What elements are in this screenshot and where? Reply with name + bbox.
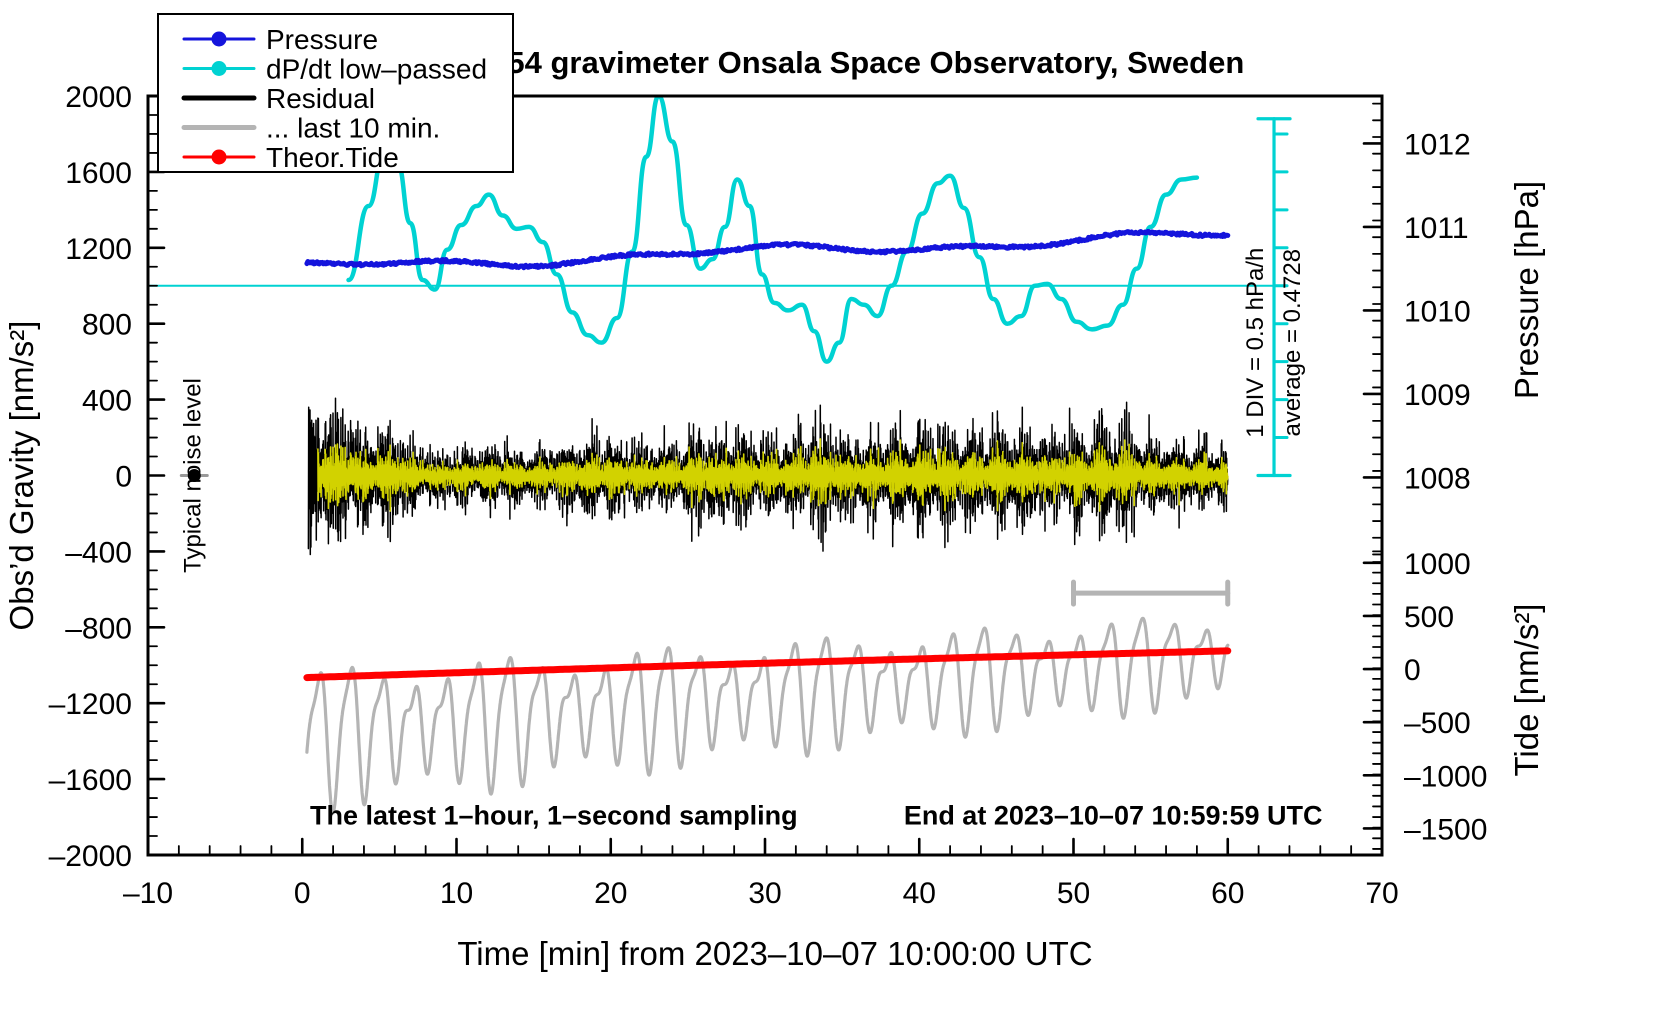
annotation-typical-noise-level: Typical noise level [179, 378, 206, 573]
ytick-label-1: 1600 [65, 157, 132, 190]
xtick-label-4: 30 [748, 877, 781, 910]
tide-tick-label-5: –1500 [1404, 813, 1487, 846]
ytick-label-3: 800 [82, 309, 132, 342]
ytick-label-7: –800 [65, 612, 132, 645]
legend-label-4: Theor.Tide [266, 142, 399, 173]
x-axis-title: Time [min] from 2023–10–07 10:00:00 UTC [457, 935, 1092, 972]
annotation-dpdt-average: average = 0.4728 [1279, 249, 1306, 437]
pressure-tick-label-3: 1009 [1404, 379, 1471, 412]
ytick-label-5: 0 [115, 461, 132, 494]
annotation-latest-sampling: The latest 1–hour, 1–second sampling [310, 801, 798, 831]
ytick-label-4: 400 [82, 385, 132, 418]
tide-tick-label-1: 500 [1404, 601, 1454, 634]
xtick-label-1: 0 [294, 877, 311, 910]
chart-title: SCG_054 gravimeter Onsala Space Observat… [406, 45, 1245, 80]
legend-label-0: Pressure [266, 24, 378, 55]
xtick-label-0: –10 [123, 877, 173, 910]
tide-tick-label-3: –500 [1404, 707, 1471, 740]
xtick-label-3: 20 [594, 877, 627, 910]
pressure-tick-label-0: 1012 [1404, 128, 1471, 161]
pressure-tick-label-2: 1010 [1404, 295, 1471, 328]
xtick-label-5: 40 [903, 877, 936, 910]
ytick-label-2: 1200 [65, 233, 132, 266]
xtick-label-7: 60 [1211, 877, 1244, 910]
ytick-label-9: –1600 [49, 764, 132, 797]
chart-canvas: 2000160012008004000–400–800–1200–1600–20… [0, 0, 1660, 1020]
annotation-dpdt-scale: 1 DIV = 0.5 hPa/h [1242, 248, 1269, 438]
tide-tick-label-2: 0 [1404, 654, 1421, 687]
ytick-label-10: –2000 [49, 840, 132, 873]
ytick-label-6: –400 [65, 536, 132, 569]
tide-tick-label-0: 1000 [1404, 548, 1471, 581]
xtick-label-6: 50 [1057, 877, 1090, 910]
annotation-end-time: End at 2023–10–07 10:59:59 UTC [904, 801, 1323, 831]
pressure-tick-label-4: 1008 [1404, 462, 1471, 495]
tide-tick-label-4: –1000 [1404, 760, 1487, 793]
legend-marker-1 [212, 61, 227, 76]
ytick-label-8: –1200 [49, 688, 132, 721]
y-axis-title-tide: Tide [nm/s²] [1508, 604, 1545, 777]
ytick-label-0: 2000 [65, 81, 132, 114]
y-axis-title-pressure: Pressure [hPa] [1508, 181, 1545, 399]
legend-label-1: dP/dt low–passed [266, 54, 487, 85]
pressure-tick-label-1: 1011 [1404, 212, 1469, 245]
legend-marker-4 [212, 150, 227, 165]
y-axis-title: Obs’d Gravity [nm/s²] [3, 321, 40, 631]
xtick-label-2: 10 [440, 877, 473, 910]
legend-label-3: ... last 10 min. [266, 113, 440, 144]
legend-marker-0 [212, 32, 227, 47]
xtick-label-8: 70 [1365, 877, 1398, 910]
legend-label-2: Residual [266, 83, 375, 114]
